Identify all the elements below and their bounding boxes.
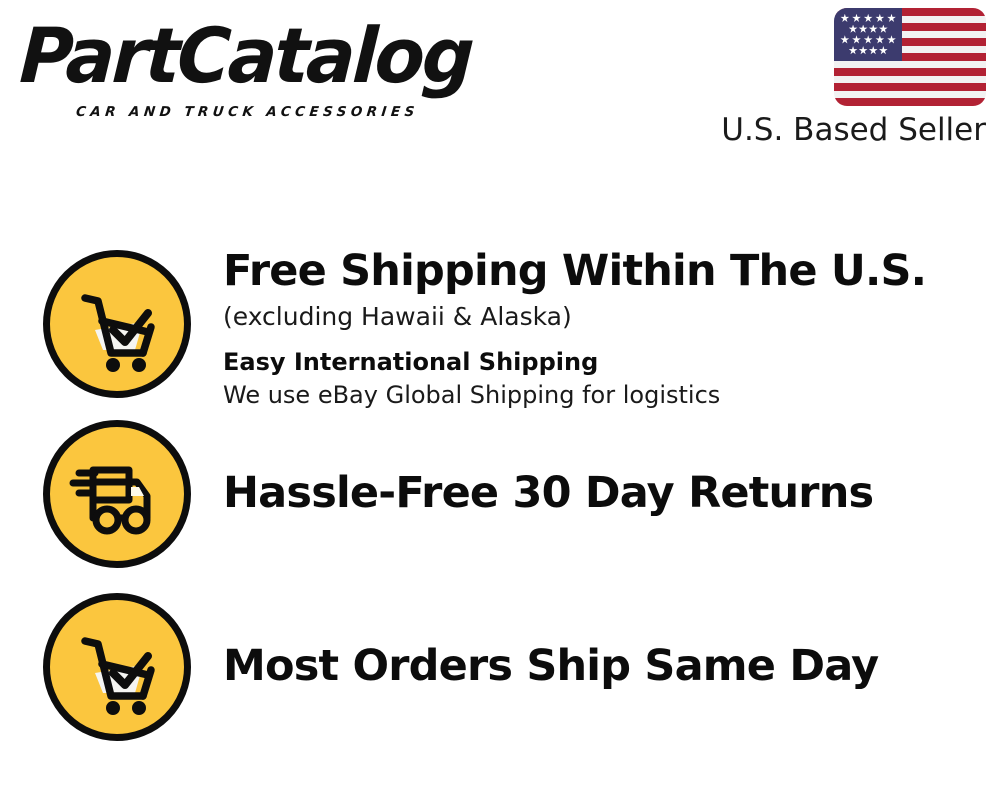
feature-title: Free Shipping Within The U.S.	[223, 246, 926, 296]
feature-text-same-day: Most Orders Ship Same Day	[223, 641, 878, 691]
feature-text-free-shipping: Free Shipping Within The U.S. (excluding…	[223, 246, 926, 411]
delivery-truck-icon	[43, 420, 191, 568]
banner-header: PartCatalog CAR AND TRUCK ACCESSORIES	[0, 0, 1000, 175]
flag-stars	[834, 8, 902, 61]
feature-row-same-day: Most Orders Ship Same Day	[0, 593, 1000, 753]
us-based-seller-label: U.S. Based Seller	[721, 112, 986, 148]
feature-note-line: We use eBay Global Shipping for logistic…	[223, 379, 926, 411]
feature-text-returns: Hassle-Free 30 Day Returns	[223, 468, 873, 518]
brand-name: PartCatalog	[18, 18, 473, 94]
brand-tagline: CAR AND TRUCK ACCESSORIES	[75, 104, 419, 120]
flag-canton	[834, 8, 902, 61]
promo-banner: PartCatalog CAR AND TRUCK ACCESSORIES	[0, 0, 1000, 800]
us-based-seller-block: U.S. Based Seller	[721, 8, 986, 148]
shopping-cart-check-icon	[43, 250, 191, 398]
feature-row-free-shipping: Free Shipping Within The U.S. (excluding…	[0, 250, 1000, 410]
us-flag-icon	[834, 8, 986, 106]
feature-title: Most Orders Ship Same Day	[223, 641, 878, 691]
feature-row-returns: Hassle-Free 30 Day Returns	[0, 420, 1000, 580]
feature-subtitle: (excluding Hawaii & Alaska)	[223, 300, 926, 334]
feature-strong-line: Easy International Shipping	[223, 346, 926, 378]
shopping-cart-check-icon	[43, 593, 191, 741]
feature-title: Hassle-Free 30 Day Returns	[223, 468, 873, 518]
brand-logo: PartCatalog CAR AND TRUCK ACCESSORIES	[22, 18, 492, 118]
